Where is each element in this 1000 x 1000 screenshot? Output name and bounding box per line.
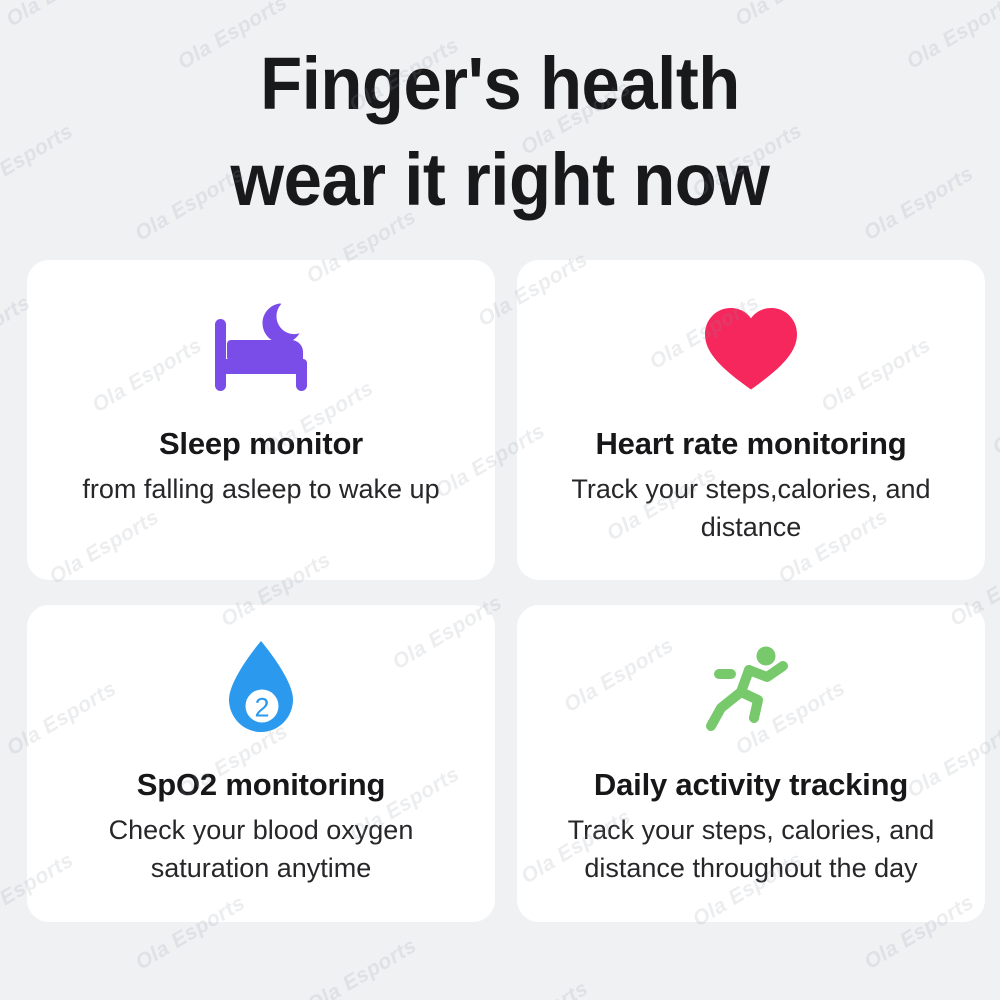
feature-card-spo2-monitoring[interactable]: 2 SpO2 monitoring Check your blood oxyge… — [27, 605, 495, 922]
running-person-icon — [701, 629, 801, 747]
card-description: Track your steps, calories, and distance… — [536, 811, 966, 887]
watermark-text: Ola Esports — [989, 311, 1000, 460]
page-title: Finger's health wear it right now — [0, 36, 1000, 228]
card-description: Track your steps,calories, and distance — [536, 470, 966, 546]
water-drop-o2-icon: 2 — [221, 629, 301, 747]
watermark-text: Ola Esports — [475, 911, 702, 1000]
watermark-text: Ola Esports — [0, 955, 144, 1000]
card-title: Heart rate monitoring — [595, 426, 906, 462]
card-title: Sleep monitor — [159, 426, 363, 462]
headline-line-2: wear it right now — [35, 132, 965, 228]
feature-card-grid: Sleep monitor from falling asleep to wak… — [27, 260, 985, 922]
feature-card-sleep-monitor[interactable]: Sleep monitor from falling asleep to wak… — [27, 260, 495, 580]
svg-text:2: 2 — [254, 693, 269, 723]
heart-icon — [701, 282, 801, 412]
watermark-text: Ola Esports — [0, 740, 15, 889]
feature-card-heart-rate-monitoring[interactable]: Heart rate monitoring Track your steps,c… — [517, 260, 985, 580]
bed-moon-sleep-icon — [207, 282, 315, 412]
card-title: SpO2 monitoring — [137, 767, 385, 803]
card-description: from falling asleep to wake up — [82, 470, 439, 508]
card-title: Daily activity tracking — [594, 767, 908, 803]
infographic-page: Finger's health wear it right now Sleep … — [0, 0, 1000, 1000]
watermark-text: Ola Esports — [2, 0, 229, 32]
card-description: Check your blood oxygen saturation anyti… — [46, 811, 476, 887]
headline-line-1: Finger's health — [35, 36, 965, 132]
watermark-text: Ola Esports — [731, 0, 958, 32]
watermark-text: Ola Esports — [646, 954, 873, 1000]
feature-card-daily-activity-tracking[interactable]: Daily activity tracking Track your steps… — [517, 605, 985, 922]
